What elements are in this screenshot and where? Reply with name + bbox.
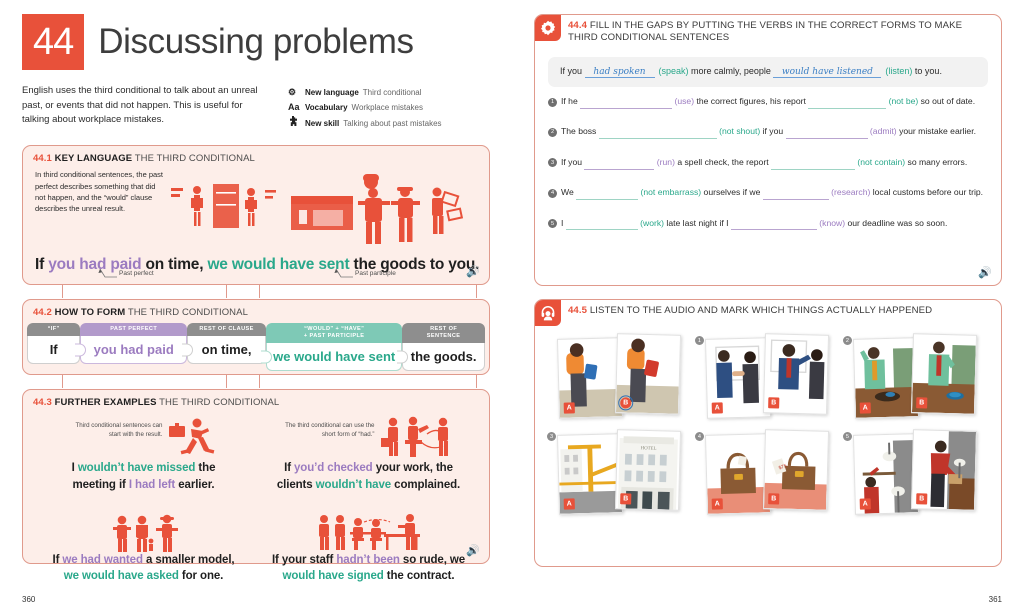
example-2: The third conditional can use the short …	[256, 416, 481, 492]
photo-option-a[interactable]: A	[853, 433, 919, 515]
answer-blank[interactable]	[599, 125, 717, 139]
sample-answer-box: If you had spoken(speak) more calmly, pe…	[548, 57, 988, 87]
section-kind: FURTHER EXAMPLES	[55, 397, 157, 408]
section-44-2: 44.2 HOW TO FORM THE THIRD CONDITIONAL “…	[22, 299, 490, 375]
section-subject: THE THIRD CONDITIONAL	[159, 397, 279, 408]
answer-blank[interactable]	[584, 156, 654, 170]
sentence-fragment: would have signed	[283, 570, 384, 582]
sentence-fragment: so rude, we	[400, 554, 465, 566]
callout-past-perfect: Past perfect	[97, 268, 154, 279]
question-number: 1	[548, 98, 557, 107]
section-number: 44.1	[33, 153, 52, 164]
key-sentence: If you had paid on time, we would have s…	[23, 256, 489, 274]
photo-option-b[interactable]: B	[763, 333, 829, 415]
gap-fill-question-list: 1If he (use) the correct figures, his re…	[535, 93, 1001, 230]
answer-blank[interactable]	[763, 186, 829, 200]
question-fragment: If he	[561, 96, 580, 106]
unit-number: 44	[22, 14, 84, 70]
puzzle-piece-text: the goods.	[402, 343, 485, 371]
meta-value: Workplace mistakes	[352, 101, 423, 115]
photo-pair-5: 5AB	[843, 428, 991, 524]
page-number-right: 361	[989, 595, 1002, 604]
verb-cue: (not embarrass)	[638, 187, 701, 197]
question-number: 3	[548, 158, 557, 167]
option-tag-b[interactable]: B	[620, 493, 631, 504]
section-connectors-2	[22, 375, 490, 389]
page-number-left: 360	[22, 595, 35, 604]
photo-pair-4: 4A$75B	[695, 428, 843, 524]
callout-text: Past participle	[355, 271, 396, 278]
section-44-4-header: 44.4 FILL IN THE GAPS BY PUTTING THE VER…	[535, 15, 1001, 45]
person-spilling-at-podium-icon	[379, 416, 455, 458]
gear-icon: ⚙	[288, 85, 301, 100]
verb-cue: (admit)	[868, 126, 897, 136]
svg-text:HOTEL: HOTEL	[641, 446, 657, 451]
sample-post: to you.	[912, 66, 942, 76]
photo-option-a[interactable]: A	[705, 337, 771, 419]
meta-row-vocabulary: Aa Vocabulary Workplace mistakes	[288, 100, 442, 115]
sentence-fragment: wouldn’t have missed	[78, 462, 196, 474]
speaker-icon[interactable]: 🔊	[466, 265, 480, 278]
sentence-would-have: we would have sent	[207, 256, 349, 273]
question-number: 4	[548, 189, 557, 198]
question-number: 2	[548, 128, 557, 137]
example-4: If your staff hadn’t been so rude, wewou…	[256, 512, 481, 584]
photo-option-b[interactable]: B	[615, 333, 681, 415]
answer-blank[interactable]	[566, 217, 638, 231]
sentence-fragment: earlier.	[175, 479, 214, 491]
section-44-5-title: 44.5 LISTEN TO THE AUDIO AND MARK WHICH …	[568, 300, 940, 317]
headphones-listen-icon	[535, 300, 561, 326]
section-kind: HOW TO FORM	[55, 307, 126, 318]
question-fragment: If you	[561, 157, 584, 167]
examples-row-1: Third conditional sentences can start wi…	[23, 414, 489, 492]
sentence-fragment: we had wanted	[62, 554, 143, 566]
answer-blank[interactable]	[771, 156, 855, 170]
verb-cue: (know)	[817, 218, 845, 228]
question-text: We (not embarrass) ourselves if we (rese…	[561, 186, 983, 200]
callout-text: Past perfect	[119, 271, 154, 278]
gear-icon	[535, 15, 561, 41]
section-44-5: 44.5 LISTEN TO THE AUDIO AND MARK WHICH …	[534, 299, 1002, 567]
puzzle-piece-text: on time,	[187, 336, 266, 364]
unit-meta-list: ⚙ New language Third conditional Aa Voca…	[288, 84, 442, 131]
option-tag-b[interactable]: B	[916, 397, 927, 408]
photo-option-b[interactable]: $75B	[763, 429, 829, 511]
option-tag-b[interactable]: B	[916, 493, 927, 504]
sample-answer-1: had spoken	[585, 67, 655, 78]
question-text: If you (run) a spell check, the report (…	[561, 156, 967, 170]
puzzle-piece-2: PAST PERFECTyou had paid	[80, 323, 187, 364]
family-group-icon	[109, 514, 179, 552]
section-44-5-header: 44.5 LISTEN TO THE AUDIO AND MARK WHICH …	[535, 300, 1001, 326]
example-3: If we had wanted a smaller model,we woul…	[31, 512, 256, 584]
sentence-fragment: wouldn’t have	[316, 479, 391, 491]
section-connectors	[22, 285, 490, 299]
section-44-4: 44.4 FILL IN THE GAPS BY PUTTING THE VER…	[534, 14, 1002, 286]
puzzle-piece-3: REST OF CLAUSEon time,	[187, 323, 266, 364]
sentence-fragment: If your staff	[272, 554, 336, 566]
question-text: If he (use) the correct figures, his rep…	[561, 95, 975, 109]
verb-cue: (work)	[638, 218, 664, 228]
verb-cue: (not contain)	[855, 157, 905, 167]
answer-blank[interactable]	[576, 186, 638, 200]
section-subject: THE THIRD CONDITIONAL	[135, 153, 255, 164]
sentence-fragment: the contract.	[384, 570, 455, 582]
gap-fill-question: 4We (not embarrass) ourselves if we (res…	[548, 186, 988, 200]
gap-fill-question: 1If he (use) the correct figures, his re…	[548, 95, 988, 109]
speaker-icon[interactable]: 🔊	[978, 266, 992, 279]
puzzle-piece-label: “WOULD” + “HAVE”+ PAST PARTICIPLE	[266, 323, 402, 343]
sample-pre: If you	[560, 66, 585, 76]
sentence-part-1: If	[35, 256, 48, 273]
photo-pair-3: 3AHOTELB	[547, 428, 695, 524]
meta-value: Talking about past mistakes	[343, 117, 441, 131]
sentence-fragment: clients	[277, 479, 316, 491]
puzzle-notch	[182, 343, 193, 356]
question-fragment: local customs before our trip.	[870, 187, 983, 197]
verb-cue: (use)	[672, 96, 694, 106]
photo-option-a[interactable]: A	[557, 337, 623, 419]
photo-option-a[interactable]: A	[853, 337, 919, 419]
question-text: The boss (not shout) if you (admit) your…	[561, 125, 976, 139]
question-fragment: our deadline was so soon.	[845, 218, 947, 228]
meta-row-new-language: ⚙ New language Third conditional	[288, 85, 442, 100]
puzzle-pieces-row: “IF”IfPAST PERFECTyou had paidREST OF CL…	[23, 323, 489, 371]
section-heading: FILL IN THE GAPS BY PUTTING THE VERBS IN…	[568, 20, 962, 43]
puzzle-notch	[75, 343, 86, 356]
sentence-fragment: we would have asked	[64, 570, 179, 582]
puzzle-piece-label: PAST PERFECT	[80, 323, 187, 336]
section-44-1-body: In third conditional sentences, the past…	[23, 168, 489, 256]
option-tag-b[interactable]: B	[768, 493, 779, 504]
puzzle-notch	[261, 350, 272, 363]
photo-option-b[interactable]: HOTELB	[615, 429, 681, 511]
question-fragment: so out of date.	[918, 96, 975, 106]
answer-blank[interactable]	[731, 217, 817, 231]
puzzle-notch	[397, 350, 408, 363]
puzzle-piece-label: REST OFSENTENCE	[402, 323, 485, 343]
section-subject: THE THIRD CONDITIONAL	[128, 307, 248, 318]
example-note: The third conditional can use the short …	[283, 416, 375, 439]
runner-with-briefcase-icon	[167, 416, 217, 456]
option-tag-a[interactable]: A	[860, 498, 871, 509]
question-fragment: late last night if I	[664, 218, 731, 228]
photo-option-b[interactable]: B	[911, 333, 977, 415]
gap-fill-question: 2The boss (not shout) if you (admit) you…	[548, 125, 988, 139]
book-spread: 44 Discussing problems English uses the …	[0, 0, 1024, 612]
example-sentence: If we had wanted a smaller model,we woul…	[31, 552, 256, 584]
photo-option-a[interactable]: A	[557, 433, 623, 515]
example-sentence: If your staff hadn’t been so rude, wewou…	[256, 552, 481, 584]
section-number: 44.5	[568, 305, 587, 316]
puzzle-piece-text: we would have sent	[266, 343, 402, 371]
puzzle-piece-text: If	[27, 336, 80, 364]
question-text: I (work) late last night if I (know) our…	[561, 217, 947, 231]
item-number: 1	[695, 336, 704, 345]
photo-pair-1: 1AB	[695, 332, 843, 428]
photo-pair-2: 2AB	[843, 332, 991, 428]
unit-header: 44 Discussing problems	[22, 14, 490, 70]
meta-label: New skill	[305, 117, 339, 131]
question-fragment: so many errors.	[905, 157, 967, 167]
option-tag-a[interactable]: A	[564, 498, 575, 509]
aa-icon: Aa	[288, 100, 301, 115]
option-tag-a[interactable]: A	[860, 402, 871, 413]
option-tag-b[interactable]: B	[768, 397, 779, 408]
verb-cue: (research)	[829, 187, 871, 197]
kitchen-illustration	[165, 168, 477, 256]
question-fragment: your mistake earlier.	[897, 126, 976, 136]
item-number: 4	[695, 432, 704, 441]
rude-staff-meeting-icon	[314, 514, 424, 552]
right-page: 44.4 FILL IN THE GAPS BY PUTTING THE VER…	[512, 0, 1024, 612]
sample-cue-2: (listen)	[881, 66, 912, 76]
speaker-icon[interactable]: 🔊	[466, 544, 480, 557]
sentence-fragment: for one.	[179, 570, 223, 582]
example-sentence: I wouldn’t have missed themeeting if I h…	[31, 460, 256, 492]
section-number: 44.2	[33, 307, 52, 318]
verb-cue: (run)	[654, 157, 675, 167]
meta-label: Vocabulary	[305, 101, 348, 115]
example-1: Third conditional sentences can start wi…	[31, 416, 256, 492]
answer-blank[interactable]	[808, 95, 886, 109]
question-fragment: a spell check, the report	[675, 157, 771, 167]
puzzle-person-icon	[288, 116, 301, 131]
gap-fill-question: 3If you (run) a spell check, the report …	[548, 156, 988, 170]
meta-value: Third conditional	[363, 86, 422, 100]
puzzle-piece-label: REST OF CLAUSE	[187, 323, 266, 336]
sentence-fragment: I had left	[129, 479, 175, 491]
example-note: Third conditional sentences can start wi…	[71, 416, 163, 439]
answer-blank[interactable]	[786, 125, 868, 139]
question-fragment: the correct figures, his report	[694, 96, 808, 106]
puzzle-piece-5: REST OFSENTENCEthe goods.	[402, 323, 485, 371]
intro-text: English uses the third conditional to ta…	[22, 84, 270, 131]
sentence-fragment: the	[195, 462, 215, 474]
sentence-fragment: your work, the	[373, 462, 453, 474]
puzzle-piece-label: “IF”	[27, 323, 80, 336]
photo-option-b[interactable]: B	[911, 429, 977, 511]
sentence-fragment: a smaller model,	[143, 554, 235, 566]
option-tag-a[interactable]: A	[564, 402, 575, 413]
question-fragment: if you	[760, 126, 785, 136]
section-heading: LISTEN TO THE AUDIO AND MARK WHICH THING…	[590, 305, 932, 316]
verb-cue: (not shout)	[717, 126, 760, 136]
section-44-3-title: 44.3 FURTHER EXAMPLES THE THIRD CONDITIO…	[23, 390, 489, 412]
answer-blank[interactable]	[580, 95, 672, 109]
photo-choice-grid: AB1AB2AB3AHOTELB4A$75B5AB	[535, 326, 1001, 524]
question-fragment: The boss	[561, 126, 599, 136]
intro-row: English uses the third conditional to ta…	[22, 84, 490, 131]
item-number: 2	[843, 336, 852, 345]
sentence-fragment: If	[284, 462, 294, 474]
sentence-fragment: complained.	[391, 479, 460, 491]
meta-label: New language	[305, 86, 359, 100]
sentence-fragment: meeting if	[72, 479, 128, 491]
puzzle-piece-1: “IF”If	[27, 323, 80, 364]
section-number: 44.3	[33, 397, 52, 408]
photo-pair-example: AB	[547, 332, 695, 428]
question-number: 5	[548, 219, 557, 228]
item-number: 3	[547, 432, 556, 441]
examples-row-2: If we had wanted a smaller model,we woul…	[23, 510, 489, 584]
section-44-1-title: 44.1 KEY LANGUAGE THE THIRD CONDITIONAL	[23, 146, 489, 168]
sentence-fragment: If	[52, 554, 62, 566]
sample-mid: more calmly, people	[689, 66, 774, 76]
section-44-2-title: 44.2 HOW TO FORM THE THIRD CONDITIONAL	[23, 300, 489, 322]
sample-answer-2: would have listened	[773, 67, 881, 78]
page-title: Discussing problems	[84, 14, 413, 70]
meta-row-new-skill: New skill Talking about past mistakes	[288, 116, 442, 131]
sentence-fragment: hadn’t been	[336, 554, 399, 566]
section-number: 44.4	[568, 20, 587, 31]
sample-cue-1: (speak)	[655, 66, 689, 76]
sentence-fragment: you’d checked	[294, 462, 373, 474]
photo-option-a[interactable]: A	[705, 433, 771, 515]
callout-past-participle: Past participle	[333, 268, 396, 279]
question-fragment: ourselves if we	[701, 187, 763, 197]
section-44-3: 44.3 FURTHER EXAMPLES THE THIRD CONDITIO…	[22, 389, 490, 564]
left-page: 44 Discussing problems English uses the …	[0, 0, 512, 612]
puzzle-piece-4: “WOULD” + “HAVE”+ PAST PARTICIPLEwe woul…	[266, 323, 402, 371]
gap-fill-question: 5I (work) late last night if I (know) ou…	[548, 217, 988, 231]
option-tag-a[interactable]: A	[712, 498, 723, 509]
section-kind: KEY LANGUAGE	[55, 153, 133, 164]
puzzle-piece-text: you had paid	[80, 336, 187, 364]
verb-cue: (not be)	[886, 96, 918, 106]
section-44-1: 44.1 KEY LANGUAGE THE THIRD CONDITIONAL …	[22, 145, 490, 285]
option-tag-a[interactable]: A	[712, 402, 723, 413]
item-number: 5	[843, 432, 852, 441]
example-sentence: If you’d checked your work, theclients w…	[256, 460, 481, 492]
question-fragment: We	[561, 187, 576, 197]
explanatory-note: In third conditional sentences, the past…	[35, 168, 165, 256]
section-44-4-title: 44.4 FILL IN THE GAPS BY PUTTING THE VER…	[568, 15, 1001, 45]
